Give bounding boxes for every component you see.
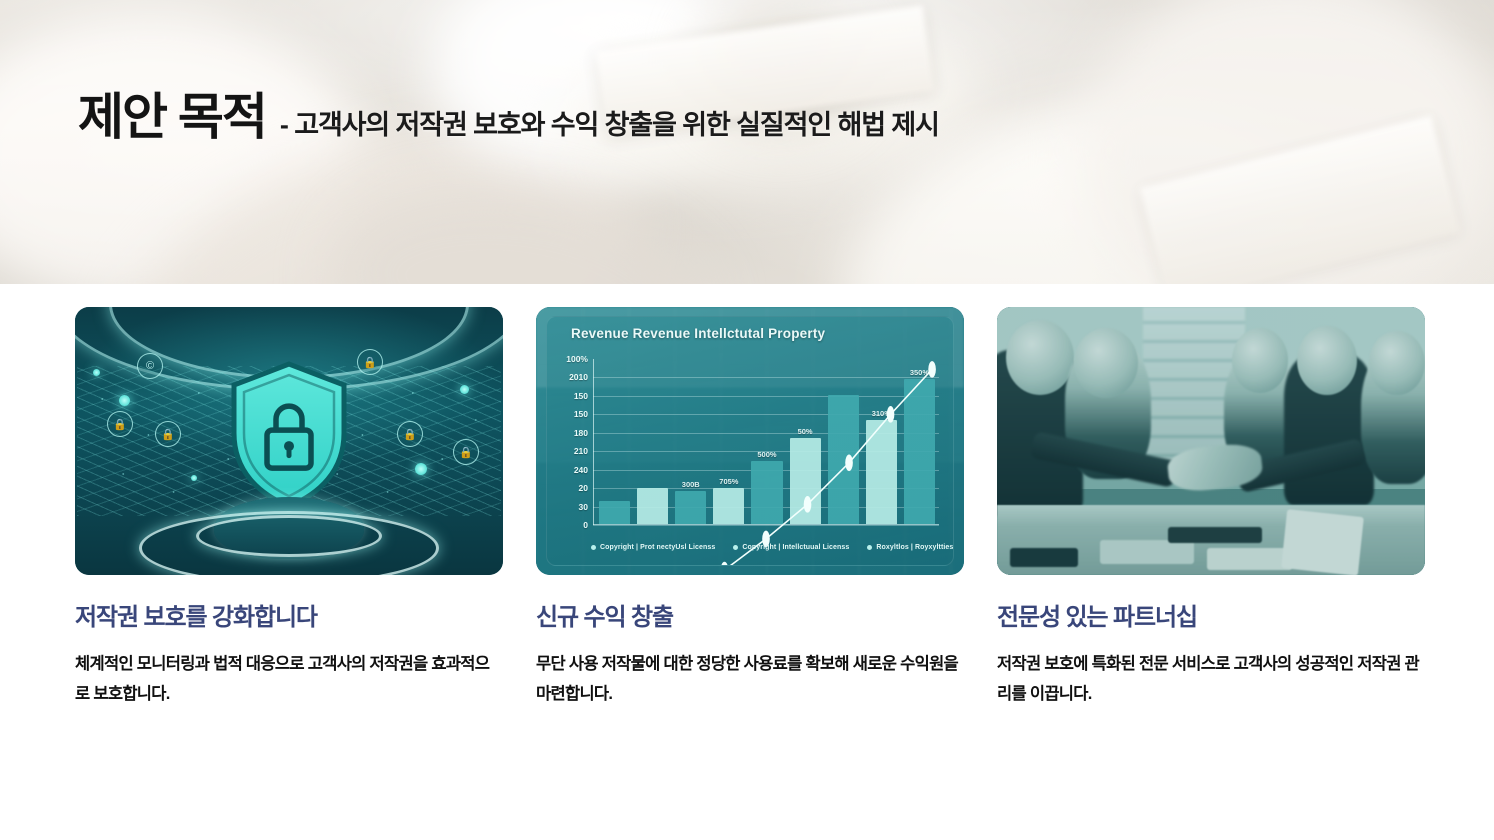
chart-legend-swatch (591, 545, 596, 550)
card-body: 체계적인 모니터링과 법적 대응으로 고객사의 저작권을 효과적으로 보호합니다… (75, 649, 499, 710)
lock-small-icon: 🔒 (357, 349, 383, 375)
chart-legend: Copyright | Prot nectyUsl LicenssCopyrig… (591, 544, 939, 551)
chart-y-tick: 2010 (569, 372, 588, 382)
chart-title: Revenue Revenue Intellctutal Property (571, 326, 825, 341)
card-body: 저작권 보호에 특화된 전문 서비스로 고객사의 성공적인 저작권 관리를 이끕… (997, 649, 1421, 710)
cyber-shield-lock-image: © 🔒 🔒 🔒 🔒 🔒 (75, 307, 503, 575)
chart-legend-item: Copyright | Intellctuual Licenss (733, 544, 849, 551)
lock-small-icon: 🔒 (397, 421, 423, 447)
chart-legend-label: Roxyltlos | Royxyltties (876, 544, 953, 551)
chart-legend-item: Copyright | Prot nectyUsl Licenss (591, 544, 715, 551)
chart-y-tick: 20 (579, 483, 588, 493)
chart-plot-area: 100%201015015018021024020300 300B705%500… (593, 359, 939, 525)
card-title: 전문성 있는 파트너십 (997, 604, 1425, 632)
chart-y-tick: 150 (574, 391, 588, 401)
chart-legend-swatch (733, 545, 738, 550)
card-title: 신규 수익 창출 (536, 604, 964, 632)
business-handshake-image (997, 307, 1425, 575)
lock-small-icon: 🔒 (107, 411, 133, 437)
chart-legend-item: Roxyltlos | Royxyltties (867, 544, 953, 551)
revenue-chart-image: Revenue Revenue Intellctutal Property 10… (536, 307, 964, 575)
feature-card-new-revenue: Revenue Revenue Intellctutal Property 10… (536, 307, 964, 710)
feature-card-list: © 🔒 🔒 🔒 🔒 🔒 (0, 284, 1494, 710)
chart-y-tick: 100% (566, 354, 588, 364)
chart-y-tick: 210 (574, 446, 588, 456)
lock-small-icon: 🔒 (155, 421, 181, 447)
feature-card-copyright-protection: © 🔒 🔒 🔒 🔒 🔒 (75, 307, 503, 710)
chart-y-tick: 30 (579, 502, 588, 512)
feature-card-partnership: 전문성 있는 파트너십 저작권 보호에 특화된 전문 서비스로 고객사의 성공적… (997, 307, 1425, 710)
chart-y-tick: 180 (574, 428, 588, 438)
card-body: 무단 사용 저작물에 대한 정당한 사용료를 확보해 새로운 수익원을 마련합니… (536, 649, 960, 710)
chart-legend-swatch (867, 545, 872, 550)
chart-y-tick: 240 (574, 465, 588, 475)
hero-banner: 제안 목적 - 고객사의 저작권 보호와 수익 창출을 위한 실질적인 해법 제… (0, 0, 1494, 284)
shield-icon (227, 361, 351, 509)
hero-heading-group: 제안 목적 - 고객사의 저작권 보호와 수익 창출을 위한 실질적인 해법 제… (78, 92, 939, 142)
card-title: 저작권 보호를 강화합니다 (75, 604, 503, 632)
page-title: 제안 목적 (78, 92, 266, 142)
chart-legend-label: Copyright | Prot nectyUsl Licenss (600, 544, 715, 551)
circle-c-icon: © (137, 353, 163, 379)
chart-y-tick: 0 (583, 520, 588, 530)
page-subtitle: - 고객사의 저작권 보호와 수익 창출을 위한 실질적인 해법 제시 (280, 112, 939, 139)
chart-y-tick: 150 (574, 409, 588, 419)
chart-trend-line (593, 359, 939, 566)
chart-panel: Revenue Revenue Intellctutal Property 10… (546, 316, 954, 566)
lock-small-icon: 🔒 (453, 439, 479, 465)
chart-legend-label: Copyright | Intellctuual Licenss (742, 544, 849, 551)
